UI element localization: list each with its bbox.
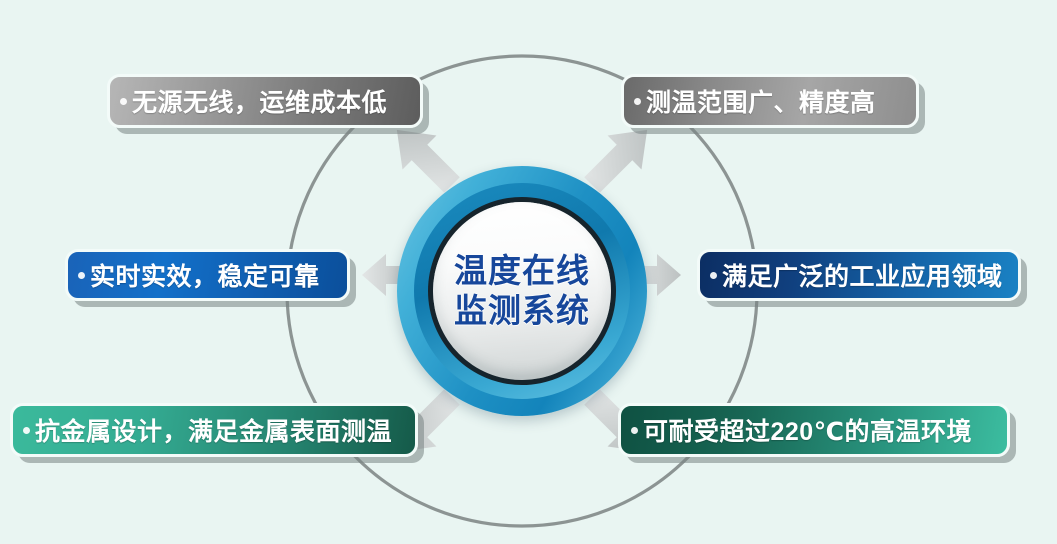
feature-label-text: 可耐受超过220℃的高温环境: [643, 412, 972, 448]
bullet-icon: [631, 427, 638, 434]
hub-title-line2: 监测系统: [454, 291, 590, 331]
bullet-icon: [710, 272, 717, 279]
feature-label-text: 无源无线，运维成本低: [132, 83, 387, 119]
hub-title: 温度在线 监测系统: [454, 251, 590, 332]
feature-label-text: 实时实效，稳定可靠: [90, 257, 320, 293]
feature-label-bottom-right[interactable]: 可耐受超过220℃的高温环境: [618, 403, 1010, 457]
bullet-icon: [23, 427, 30, 434]
feature-label-text: 满足广泛的工业应用领域: [722, 257, 1003, 293]
bullet-icon: [78, 272, 85, 279]
feature-label-top-left[interactable]: 无源无线，运维成本低: [107, 74, 423, 128]
hub-title-line1: 温度在线: [454, 251, 590, 291]
bullet-icon: [120, 98, 127, 105]
diagram-canvas: 温度在线 监测系统 无源无线，运维成本低 测温范围广、精度高 实时实效，稳定可靠…: [0, 0, 1057, 544]
feature-label-top-right[interactable]: 测温范围广、精度高: [621, 74, 919, 128]
feature-label-text: 抗金属设计，满足金属表面测温: [35, 412, 392, 448]
hub-face: 温度在线 监测系统: [433, 202, 611, 380]
bullet-icon: [634, 98, 641, 105]
feature-label-bottom-left[interactable]: 抗金属设计，满足金属表面测温: [10, 403, 418, 457]
feature-label-text: 测温范围广、精度高: [646, 83, 876, 119]
feature-label-middle-left[interactable]: 实时实效，稳定可靠: [65, 249, 350, 301]
feature-label-middle-right[interactable]: 满足广泛的工业应用领域: [697, 249, 1021, 301]
center-hub[interactable]: 温度在线 监测系统: [397, 166, 647, 416]
